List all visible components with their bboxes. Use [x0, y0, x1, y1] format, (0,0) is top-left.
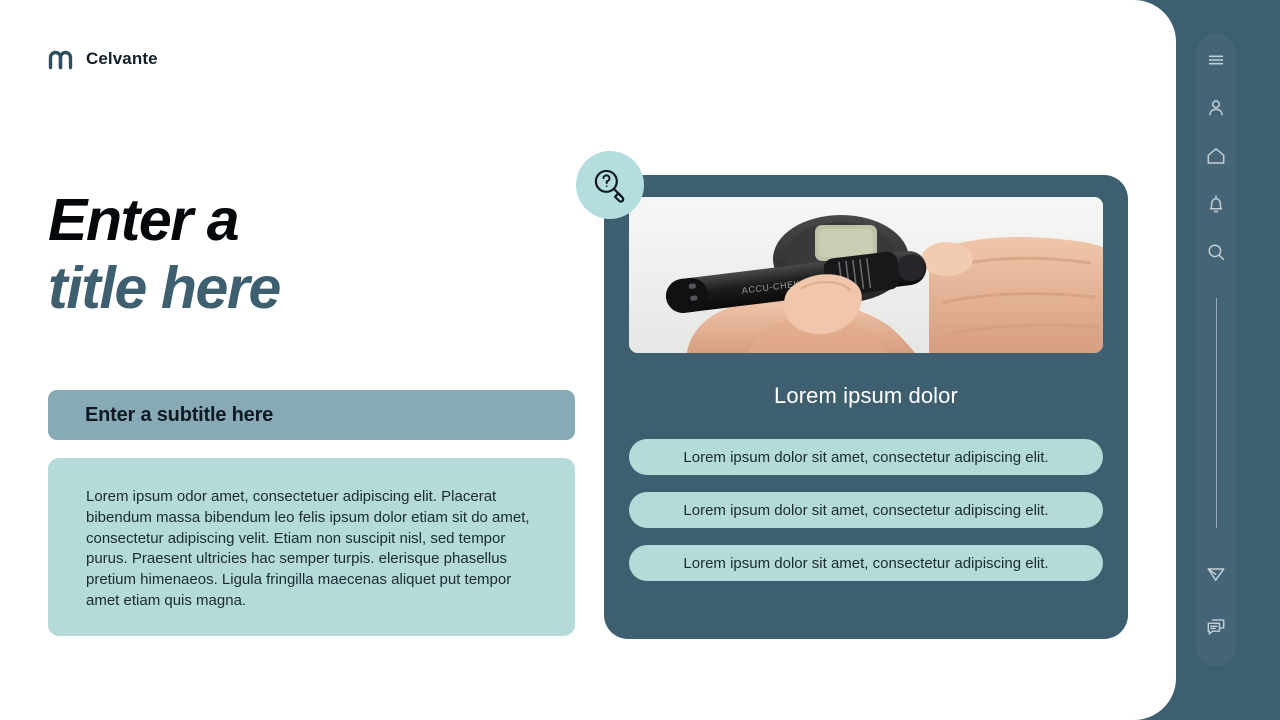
sidebar-rail — [1196, 34, 1236, 666]
search-icon[interactable] — [1203, 239, 1229, 265]
celvante-m-logo-icon — [48, 46, 74, 72]
brand-logo[interactable]: Celvante — [48, 46, 158, 72]
feature-card-heading: Lorem ipsum dolor — [604, 383, 1128, 409]
page-title-line-2: title here — [48, 254, 280, 322]
subtitle-bar[interactable]: Enter a subtitle here — [48, 390, 575, 440]
page-title: Enter a title here — [48, 186, 280, 323]
magnifier-question-icon[interactable] — [576, 151, 644, 219]
body-paragraph: Lorem ipsum odor amet, consectetuer adip… — [86, 487, 544, 612]
home-icon[interactable] — [1203, 143, 1229, 169]
sidebar-top-icons — [1196, 34, 1236, 265]
sidebar-bottom-icons — [1196, 560, 1236, 640]
subtitle-text: Enter a subtitle here — [85, 404, 273, 427]
feature-card: ACCU-CHEK Lorem ipsum dolor Lorem ipsum … — [604, 175, 1128, 639]
feature-list: Lorem ipsum dolor sit amet, consectetur … — [629, 439, 1103, 581]
sidebar-divider — [1216, 298, 1217, 528]
chat-icon[interactable] — [1203, 614, 1229, 640]
user-icon[interactable] — [1203, 95, 1229, 121]
page-title-line-1: Enter a — [48, 186, 280, 254]
bell-icon[interactable] — [1203, 191, 1229, 217]
hamburger-menu-icon[interactable] — [1203, 47, 1229, 73]
send-icon[interactable] — [1203, 560, 1229, 586]
list-item[interactable]: Lorem ipsum dolor sit amet, consectetur … — [629, 492, 1103, 528]
body-text-box[interactable]: Lorem ipsum odor amet, consectetuer adip… — [48, 458, 575, 636]
right-sidebar — [1176, 0, 1280, 720]
list-item[interactable]: Lorem ipsum dolor sit amet, consectetur … — [629, 545, 1103, 581]
list-item[interactable]: Lorem ipsum dolor sit amet, consectetur … — [629, 439, 1103, 475]
slide-canvas: Celvante Enter a title here Enter a subt… — [0, 0, 1176, 720]
brand-name: Celvante — [86, 49, 158, 69]
feature-photo: ACCU-CHEK — [629, 197, 1103, 353]
